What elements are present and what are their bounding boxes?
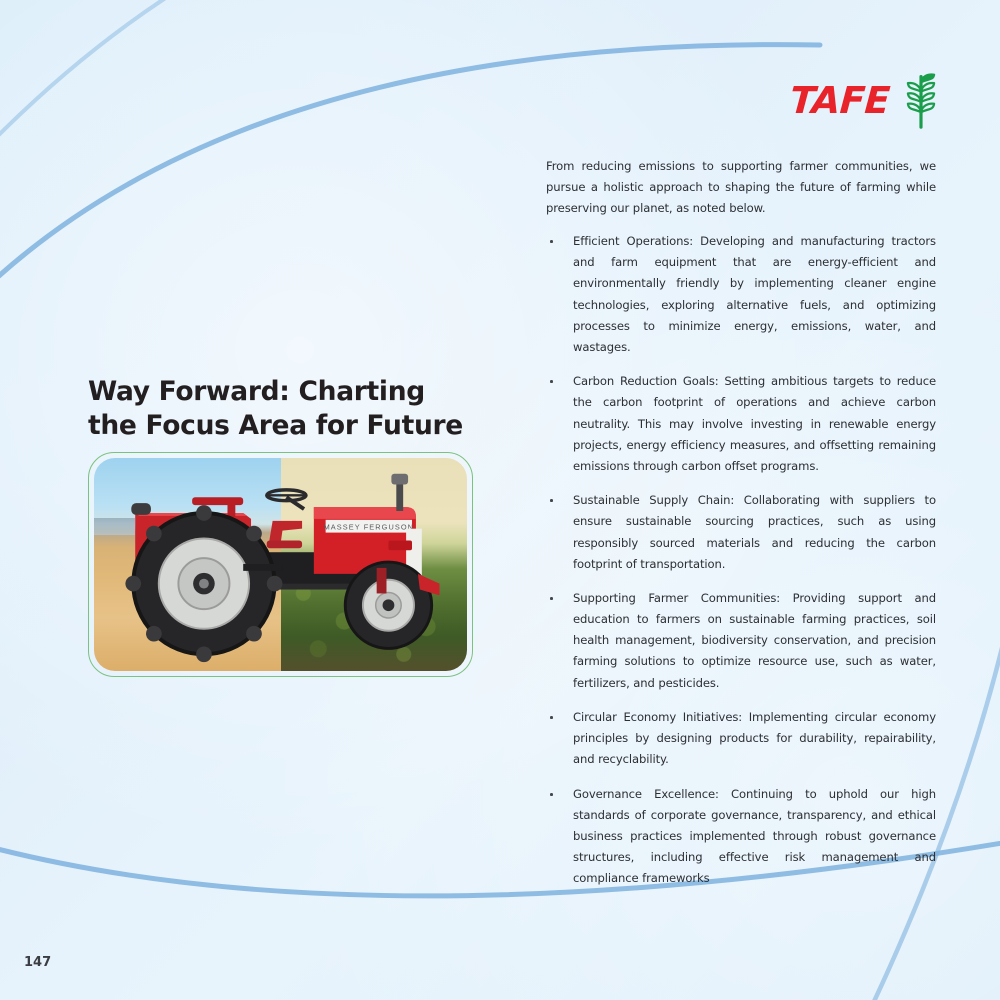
page-title: Way Forward: Charting the Focus Area for… bbox=[88, 375, 488, 443]
list-item-text: Sustainable Supply Chain: Collaborating … bbox=[573, 493, 936, 570]
list-item: Efficient Operations: Developing and man… bbox=[546, 231, 936, 358]
tafe-logo-text: TAFE bbox=[789, 82, 891, 119]
bullet-dot-icon bbox=[550, 716, 553, 719]
bullet-dot-icon bbox=[550, 597, 553, 600]
bullet-dot-icon bbox=[550, 793, 553, 796]
list-item-text: Governance Excellence: Continuing to uph… bbox=[573, 787, 936, 885]
list-item-text: Carbon Reduction Goals: Setting ambitiou… bbox=[573, 374, 936, 472]
wheat-stalk-icon bbox=[902, 71, 940, 129]
list-item-text: Circular Economy Initiatives: Implementi… bbox=[573, 710, 936, 766]
list-item: Circular Economy Initiatives: Implementi… bbox=[546, 707, 936, 770]
list-item: Governance Excellence: Continuing to uph… bbox=[546, 784, 936, 889]
list-item-text: Supporting Farmer Communities: Providing… bbox=[573, 591, 936, 689]
tafe-logo: TAFE bbox=[790, 70, 940, 130]
page-title-line1: Way Forward: Charting bbox=[88, 376, 425, 407]
content-column: From reducing emissions to supporting fa… bbox=[546, 156, 936, 903]
page-number: 147 bbox=[24, 955, 51, 970]
tractor-brand-text: MASSEY FERGUSON bbox=[324, 523, 415, 532]
list-item: Supporting Farmer Communities: Providing… bbox=[546, 588, 936, 693]
list-item: Carbon Reduction Goals: Setting ambitiou… bbox=[546, 371, 936, 476]
report-page: TAFE Way Forward: Charting the Focus Are… bbox=[0, 0, 1000, 1000]
bullet-dot-icon bbox=[550, 499, 553, 502]
tractor-photo: MASSEY FERGUSON bbox=[94, 458, 467, 671]
bullet-dot-icon bbox=[550, 380, 553, 383]
bullet-dot-icon bbox=[550, 240, 553, 243]
massey-ferguson-tractor-illustration: MASSEY FERGUSON bbox=[94, 458, 467, 671]
focus-area-list: Efficient Operations: Developing and man… bbox=[546, 231, 936, 889]
list-item: Sustainable Supply Chain: Collaborating … bbox=[546, 490, 936, 574]
page-title-line2: the Focus Area for Future bbox=[88, 410, 463, 441]
list-item-text: Efficient Operations: Developing and man… bbox=[573, 234, 936, 353]
tractor-photo-frame: MASSEY FERGUSON bbox=[88, 452, 473, 677]
intro-paragraph: From reducing emissions to supporting fa… bbox=[546, 156, 936, 219]
